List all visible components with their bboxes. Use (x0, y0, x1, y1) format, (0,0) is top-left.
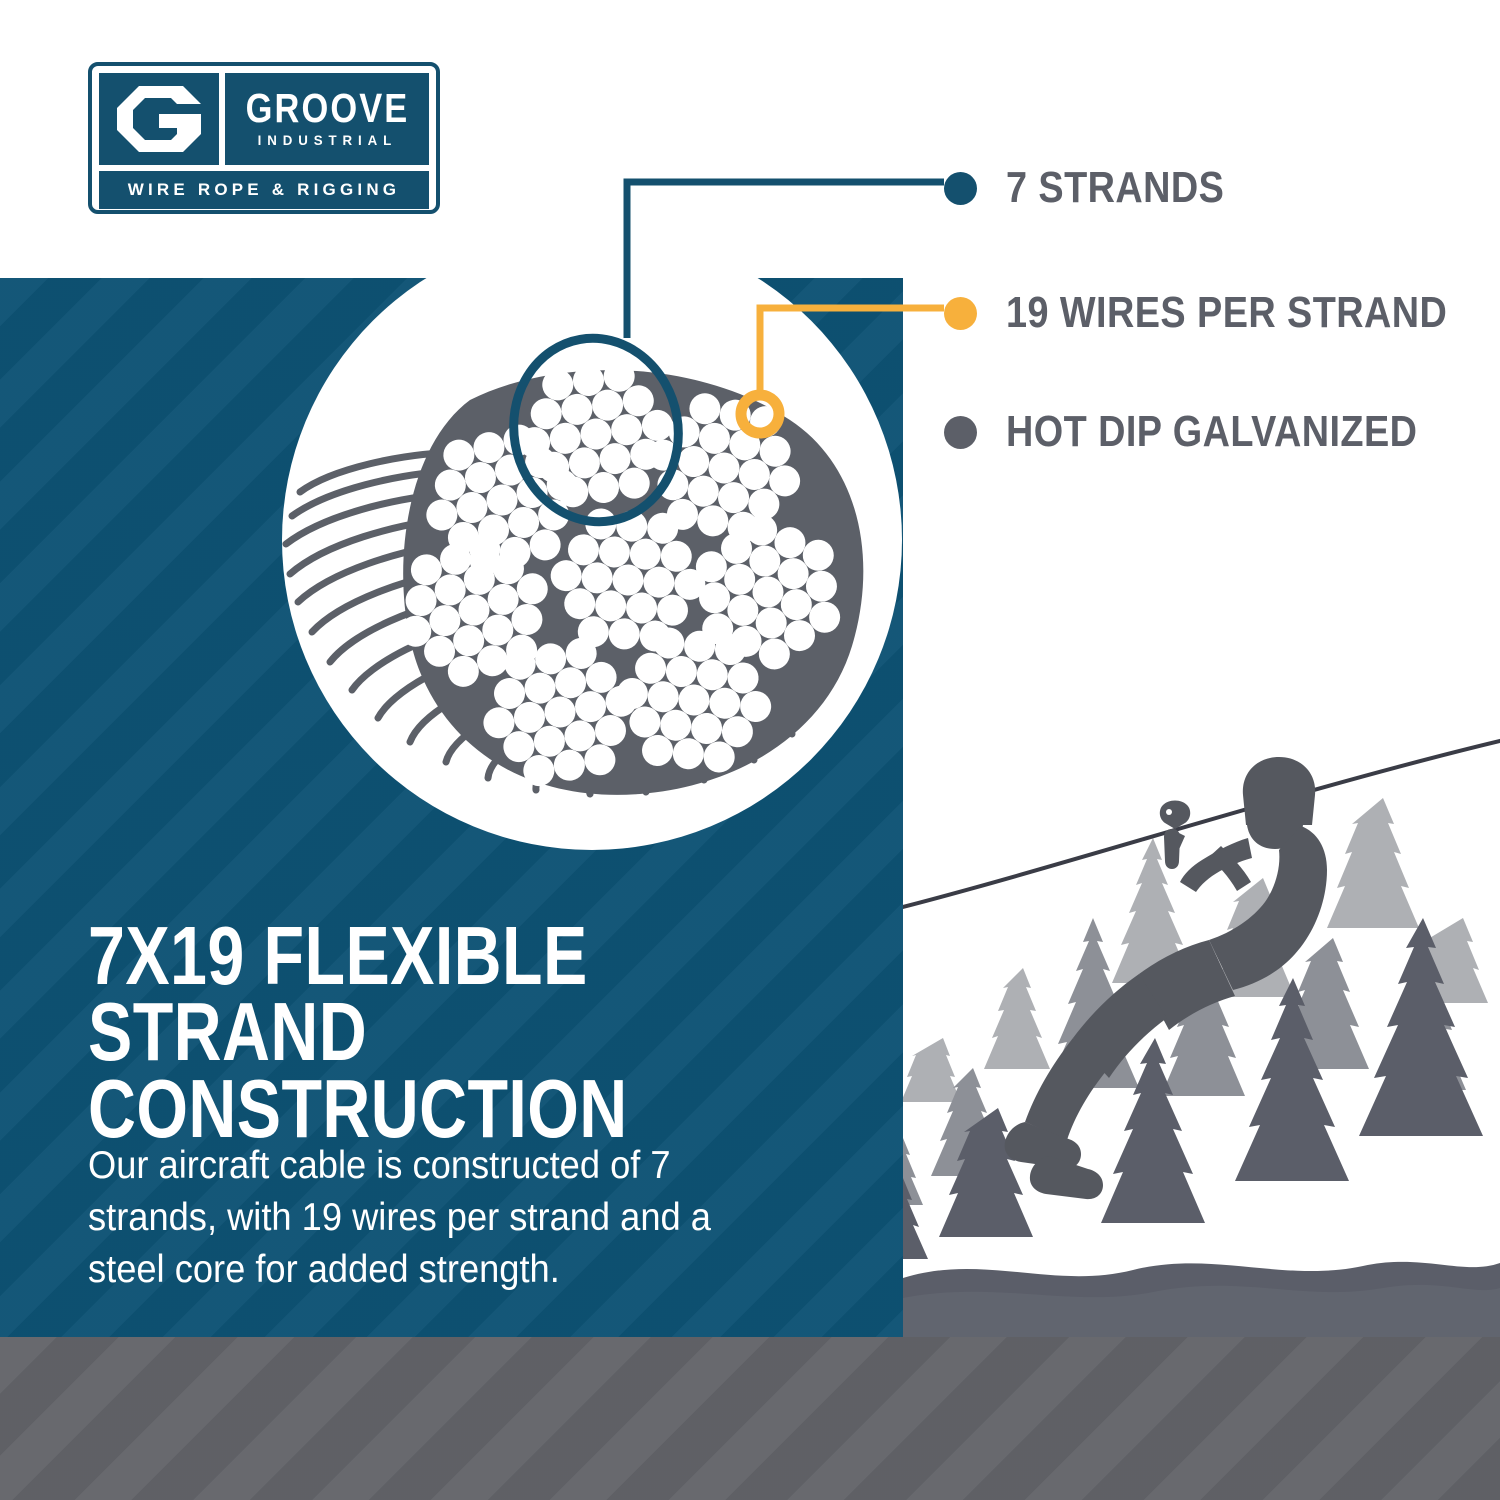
body-paragraph: Our aircraft cable is constructed of 7 s… (88, 1140, 739, 1296)
infographic-canvas: GROOVE INDUSTRIAL WIRE ROPE & RIGGING 7 … (0, 0, 1500, 1500)
callout-dot-icon (944, 416, 977, 449)
logo-top-row: GROOVE INDUSTRIAL (99, 73, 429, 165)
callout-label: HOT DIP GALVANIZED (1006, 410, 1417, 454)
logo-wordmark: GROOVE INDUSTRIAL (225, 73, 429, 165)
callout-dot-icon (944, 297, 977, 330)
callout-19-wires: 19 WIRES PER STRAND (944, 291, 1500, 335)
callout-dot-icon (944, 172, 977, 205)
brand-tagline: WIRE ROPE & RIGGING (128, 180, 400, 200)
brand-name: GROOVE (245, 89, 409, 128)
headline-line-1: 7X19 FLEXIBLE (88, 918, 720, 994)
callout-7-strands: 7 STRANDS (944, 166, 1260, 210)
headline: 7X19 FLEXIBLE STRAND CONSTRUCTION (88, 918, 720, 1147)
headline-line-2: STRAND CONSTRUCTION (88, 994, 720, 1147)
g-hexagon-icon (115, 84, 203, 154)
callout-hot-dip-galvanized: HOT DIP GALVANIZED (944, 410, 1484, 454)
callout-label: 19 WIRES PER STRAND (1006, 291, 1447, 335)
brand-subtitle: INDUSTRIAL (257, 132, 396, 148)
footer-band (0, 1337, 1500, 1500)
brand-logo[interactable]: GROOVE INDUSTRIAL WIRE ROPE & RIGGING (88, 62, 440, 214)
callout-label: 7 STRANDS (1006, 166, 1224, 210)
logo-tagline-bar: WIRE ROPE & RIGGING (99, 171, 429, 209)
groove-g-mark-icon (99, 73, 219, 165)
